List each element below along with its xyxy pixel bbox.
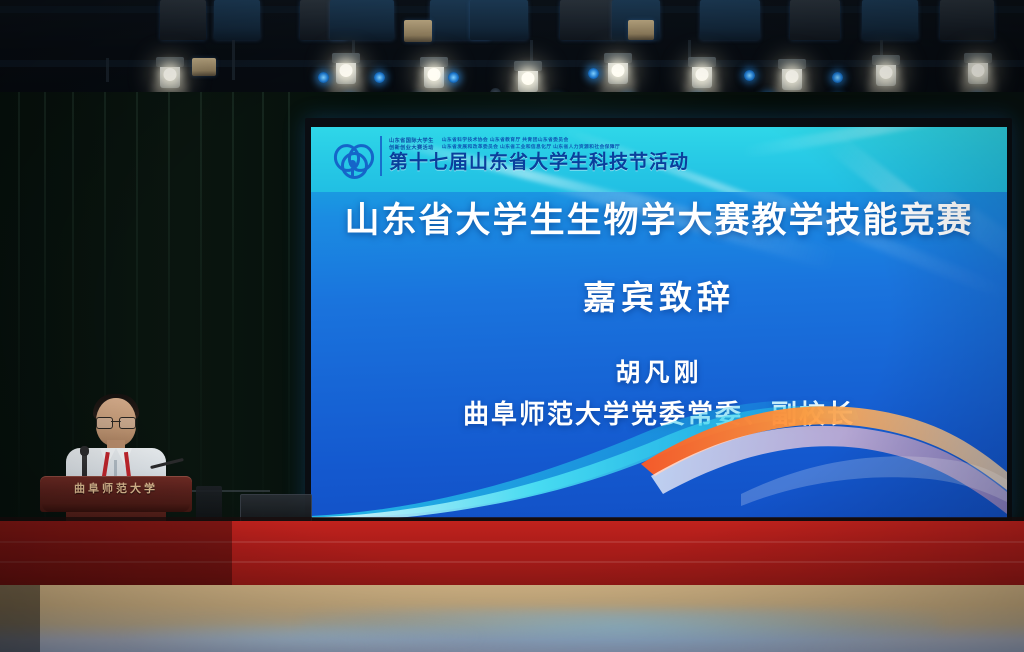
floor-shadow-left <box>0 585 40 652</box>
led-dot <box>448 72 459 83</box>
logo-divider <box>380 136 382 176</box>
floor-light-reflection-secondary <box>120 620 480 652</box>
led-dot <box>832 72 843 83</box>
podium-lip <box>42 504 190 512</box>
rig-fixture-row <box>0 0 1024 46</box>
session-subtitle: 嘉宾致辞 <box>311 279 1007 317</box>
competition-title: 山东省大学生生物学大赛教学技能竞赛 <box>311 201 1007 241</box>
badge-left-line2: 创新创业大赛活动 <box>389 145 434 151</box>
riser-shadow <box>0 521 232 587</box>
led-screen: 山东省国际大学生 创新创业大赛活动 山东省科学技术协会 山东省教育厅 共青团山东… <box>311 127 1007 518</box>
screen-header-band: 山东省国际大学生 创新创业大赛活动 山东省科学技术协会 山东省教育厅 共青团山东… <box>311 127 1007 192</box>
science-festival-logo <box>333 135 373 177</box>
stage-scene: 山东省国际大学生 创新创业大赛活动 山东省科学技术协会 山东省教育厅 共青团山东… <box>0 0 1024 652</box>
led-dot <box>374 72 385 83</box>
led-dot <box>744 70 755 81</box>
event-series-title: 第十七届山东省大学生科技节活动 <box>389 152 689 174</box>
led-dot <box>318 72 329 83</box>
ribbon-graphic <box>311 398 1007 518</box>
glasses-icon <box>96 417 136 427</box>
podium-institution-text: 曲阜师范大学 <box>40 482 192 496</box>
stage-speaker-box <box>196 486 222 520</box>
organizers-line2: 山东省发展和改革委员会 山东省工业和信息化厅 山东省人力资源和社会保障厅 <box>442 145 620 151</box>
led-dot <box>588 68 599 79</box>
speaker-name: 胡凡刚 <box>311 359 1007 389</box>
